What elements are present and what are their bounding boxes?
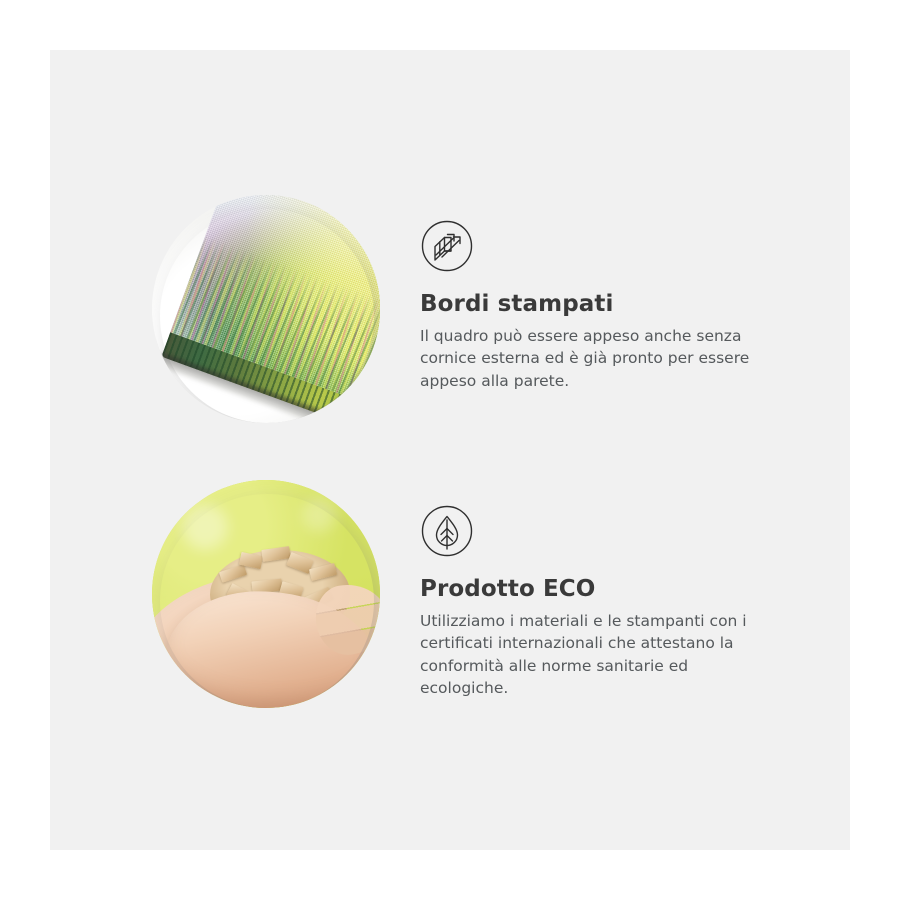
product-feature-page: Bordi stampati Il quadro può essere appe… — [0, 0, 900, 900]
printed-edges-icon — [420, 219, 474, 273]
canvas-block — [152, 195, 380, 423]
printed-edges-text-column: Bordi stampati Il quadro può essere appe… — [380, 195, 800, 392]
feature-description: Il quadro può essere appeso anche senza … — [420, 325, 780, 392]
eco-text-column: Prodotto ECO Utilizziamo i materiali e l… — [380, 480, 800, 700]
feature-description: Utilizziamo i materiali e le stampanti c… — [420, 610, 780, 700]
feature-title: Bordi stampati — [420, 291, 800, 317]
bokeh-highlight — [302, 498, 336, 532]
eco-hands-photo — [152, 480, 380, 708]
feature-eco-product: Prodotto ECO Utilizziamo i materiali e l… — [152, 480, 800, 708]
canvas-photo-backdrop — [152, 195, 380, 423]
eco-photo-background — [152, 480, 380, 708]
content-panel: Bordi stampati Il quadro può essere appe… — [50, 50, 850, 850]
leaf-icon — [420, 504, 474, 558]
feature-printed-edges: Bordi stampati Il quadro può essere appe… — [152, 195, 800, 423]
canvas-corner-photo — [152, 195, 380, 423]
feature-title: Prodotto ECO — [420, 576, 800, 602]
